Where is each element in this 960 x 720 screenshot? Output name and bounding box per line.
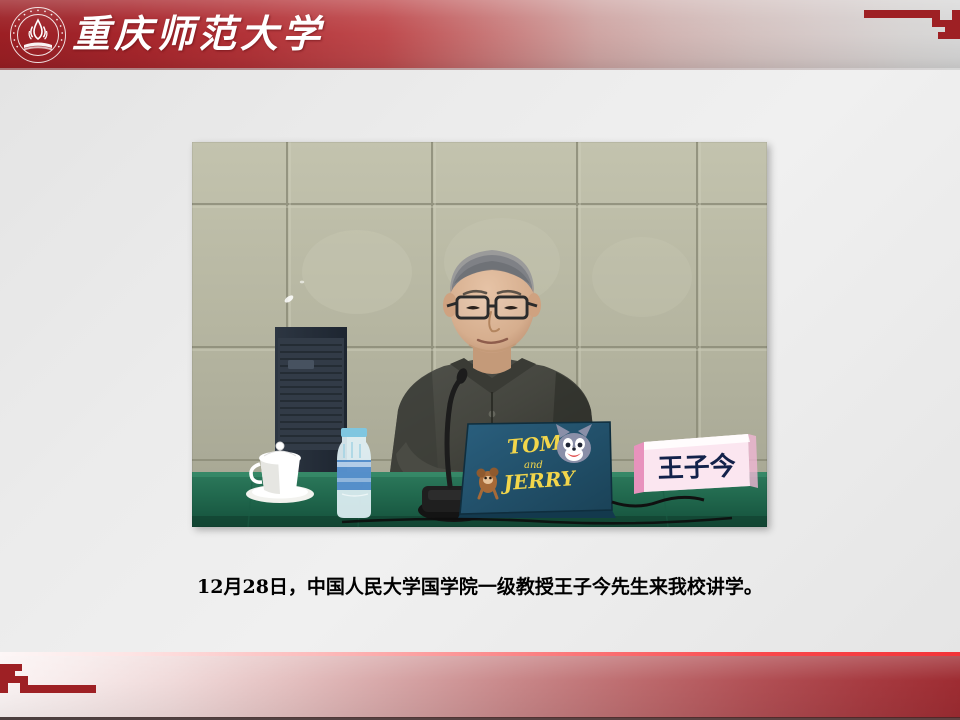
header-divider — [0, 68, 960, 70]
footer-banner — [0, 656, 960, 718]
photo-caption: 12月28日，中国人民大学国学院一级教授王子今先生来我校讲学。 — [0, 572, 960, 599]
meander-ornament-top-right — [864, 7, 960, 51]
svg-text:TOM: TOM — [506, 430, 563, 459]
university-logo-icon — [10, 7, 66, 63]
lecture-photo: TOM and JERRY — [192, 142, 767, 527]
presentation-slide: 重庆师范大学 — [0, 0, 960, 720]
lecture-photo-image: TOM and JERRY — [192, 142, 767, 527]
university-name-title: 重庆师范大学 — [72, 6, 324, 62]
svg-text:王子今: 王子今 — [657, 451, 736, 485]
logo-emblem-glyph — [10, 7, 66, 63]
meander-ornament-bottom-left — [0, 652, 96, 696]
